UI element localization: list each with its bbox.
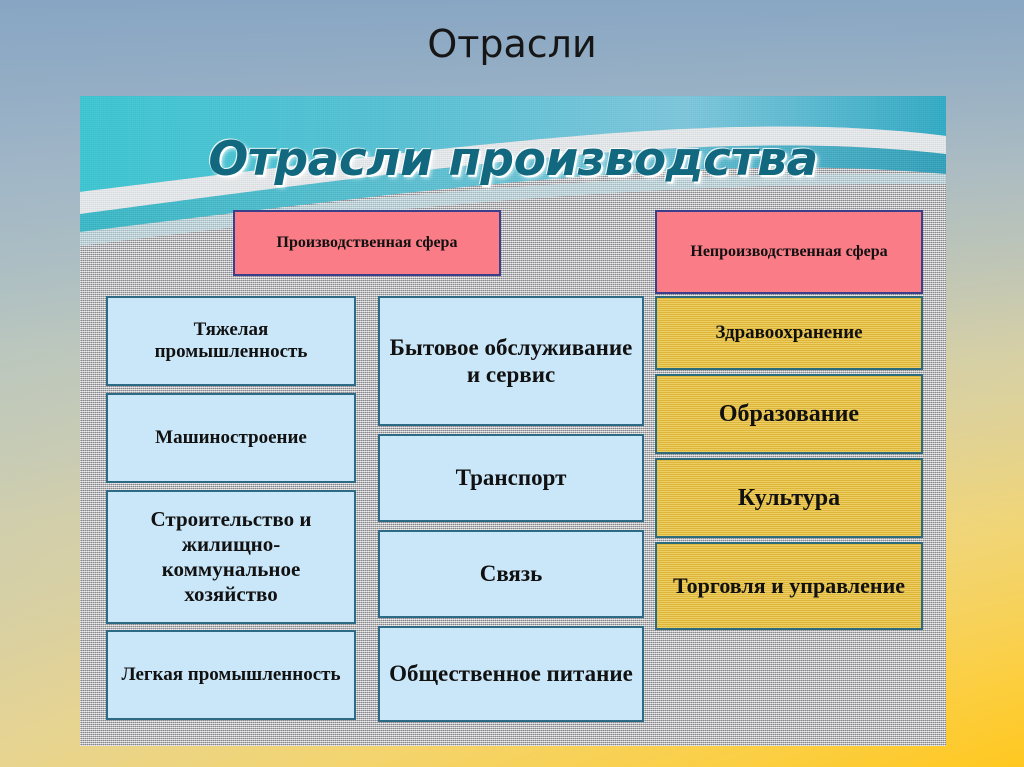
item-education[interactable]: Образование — [655, 374, 923, 454]
header-non-production-sphere[interactable]: Непроизводственная сфера — [655, 210, 923, 294]
slide-body: Отрасли производства Производственная сф… — [80, 96, 946, 746]
slide-canvas: Отрасли — [0, 0, 1024, 767]
item-public-catering[interactable]: Общественное питание — [378, 626, 644, 722]
item-communications-label: Связь — [472, 560, 551, 587]
item-transport[interactable]: Транспорт — [378, 434, 644, 522]
item-heavy-industry-label: Тяжелая промышленность — [108, 319, 354, 364]
item-public-catering-label: Общественное питание — [381, 660, 641, 687]
header-production-sphere[interactable]: Производственная сфера — [233, 210, 501, 276]
item-culture[interactable]: Культура — [655, 458, 923, 538]
item-trade-management-label: Торговля и управление — [665, 573, 913, 599]
item-machine-building[interactable]: Машиностроение — [106, 393, 356, 483]
item-consumer-services[interactable]: Бытовое обслуживание и сервис — [378, 296, 644, 426]
item-construction-housing-label: Строительство и жилищно-коммунальное хоз… — [108, 507, 354, 606]
item-education-label: Образование — [711, 400, 867, 428]
item-communications[interactable]: Связь — [378, 530, 644, 618]
item-machine-building-label: Машиностроение — [147, 427, 315, 449]
item-trade-management[interactable]: Торговля и управление — [655, 542, 923, 630]
item-healthcare-label: Здравоохранение — [707, 322, 870, 344]
slide-heading-text: Отрасли производства — [208, 132, 817, 187]
item-light-industry-label: Легкая промышленность — [113, 664, 348, 686]
item-light-industry[interactable]: Легкая промышленность — [106, 630, 356, 720]
page-title: Отрасли — [0, 22, 1024, 66]
item-transport-label: Транспорт — [448, 464, 575, 491]
item-heavy-industry[interactable]: Тяжелая промышленность — [106, 296, 356, 386]
item-healthcare[interactable]: Здравоохранение — [655, 296, 923, 370]
item-consumer-services-label: Бытовое обслуживание и сервис — [380, 334, 642, 388]
slide-heading: Отрасли производства — [80, 132, 946, 187]
page-title-text: Отрасли — [427, 22, 596, 66]
item-culture-label: Культура — [730, 484, 848, 512]
header-production-sphere-label: Производственная сфера — [269, 234, 466, 253]
header-non-production-sphere-label: Непроизводственная сфера — [682, 243, 895, 262]
item-construction-housing[interactable]: Строительство и жилищно-коммунальное хоз… — [106, 490, 356, 624]
